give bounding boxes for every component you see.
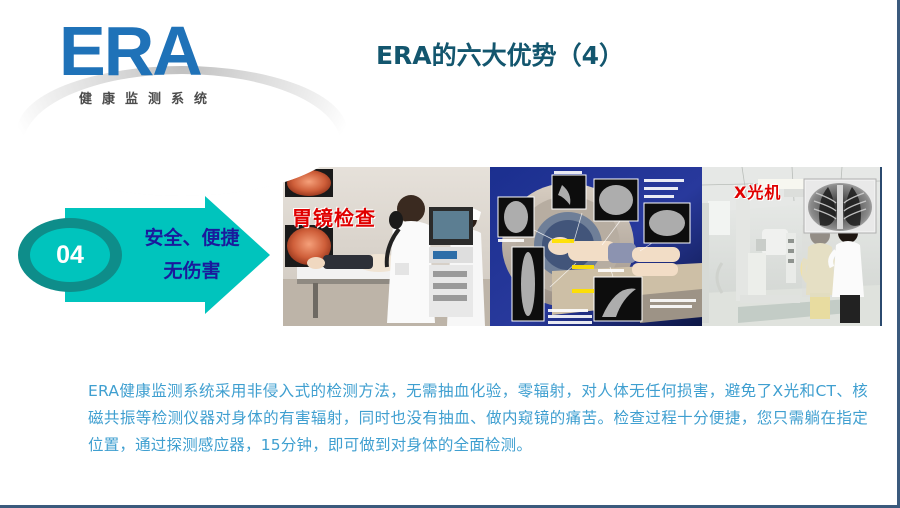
xray-room-art — [702, 167, 880, 326]
mri-scan-illustration — [490, 167, 702, 326]
advantage-number: 04 — [18, 218, 122, 292]
logo-subtitle: 健康监测系统 — [79, 88, 217, 107]
advantage-number-badge: 04 — [18, 218, 122, 292]
slide-header: ERA 健康监测系统 ERA的六大优势（4） — [0, 0, 900, 122]
mri-illustration-art — [490, 167, 702, 326]
page-title: ERA的六大优势（4） — [300, 36, 700, 72]
advantage-callout: 04 安全、便捷 无伤害 — [15, 196, 270, 314]
advantage-label-line2: 无伤害 — [127, 255, 257, 288]
body-paragraph: ERA健康监测系统采用非侵入式的检测方法，无需抽血化验，零辐射，对人体无任何损害… — [88, 378, 868, 459]
era-logo: ERA 健康监测系统 — [55, 14, 305, 114]
logo-wordmark: ERA — [59, 14, 201, 88]
xray-caption: X光机 — [734, 179, 781, 203]
slide-canvas: ERA 健康监测系统 ERA的六大优势（4） 04 安全、便捷 无伤害 — [0, 0, 900, 508]
illustration-strip: 胃镜检查 — [283, 167, 882, 326]
gastroscopy-photo-art — [283, 167, 490, 326]
xray-room-photo: X光机 — [702, 167, 880, 326]
advantage-label-line1: 安全、便捷 — [127, 222, 257, 255]
gastroscopy-photo: 胃镜检查 — [283, 167, 490, 326]
gastroscopy-caption: 胃镜检查 — [292, 202, 376, 231]
advantage-label: 安全、便捷 无伤害 — [127, 222, 257, 288]
